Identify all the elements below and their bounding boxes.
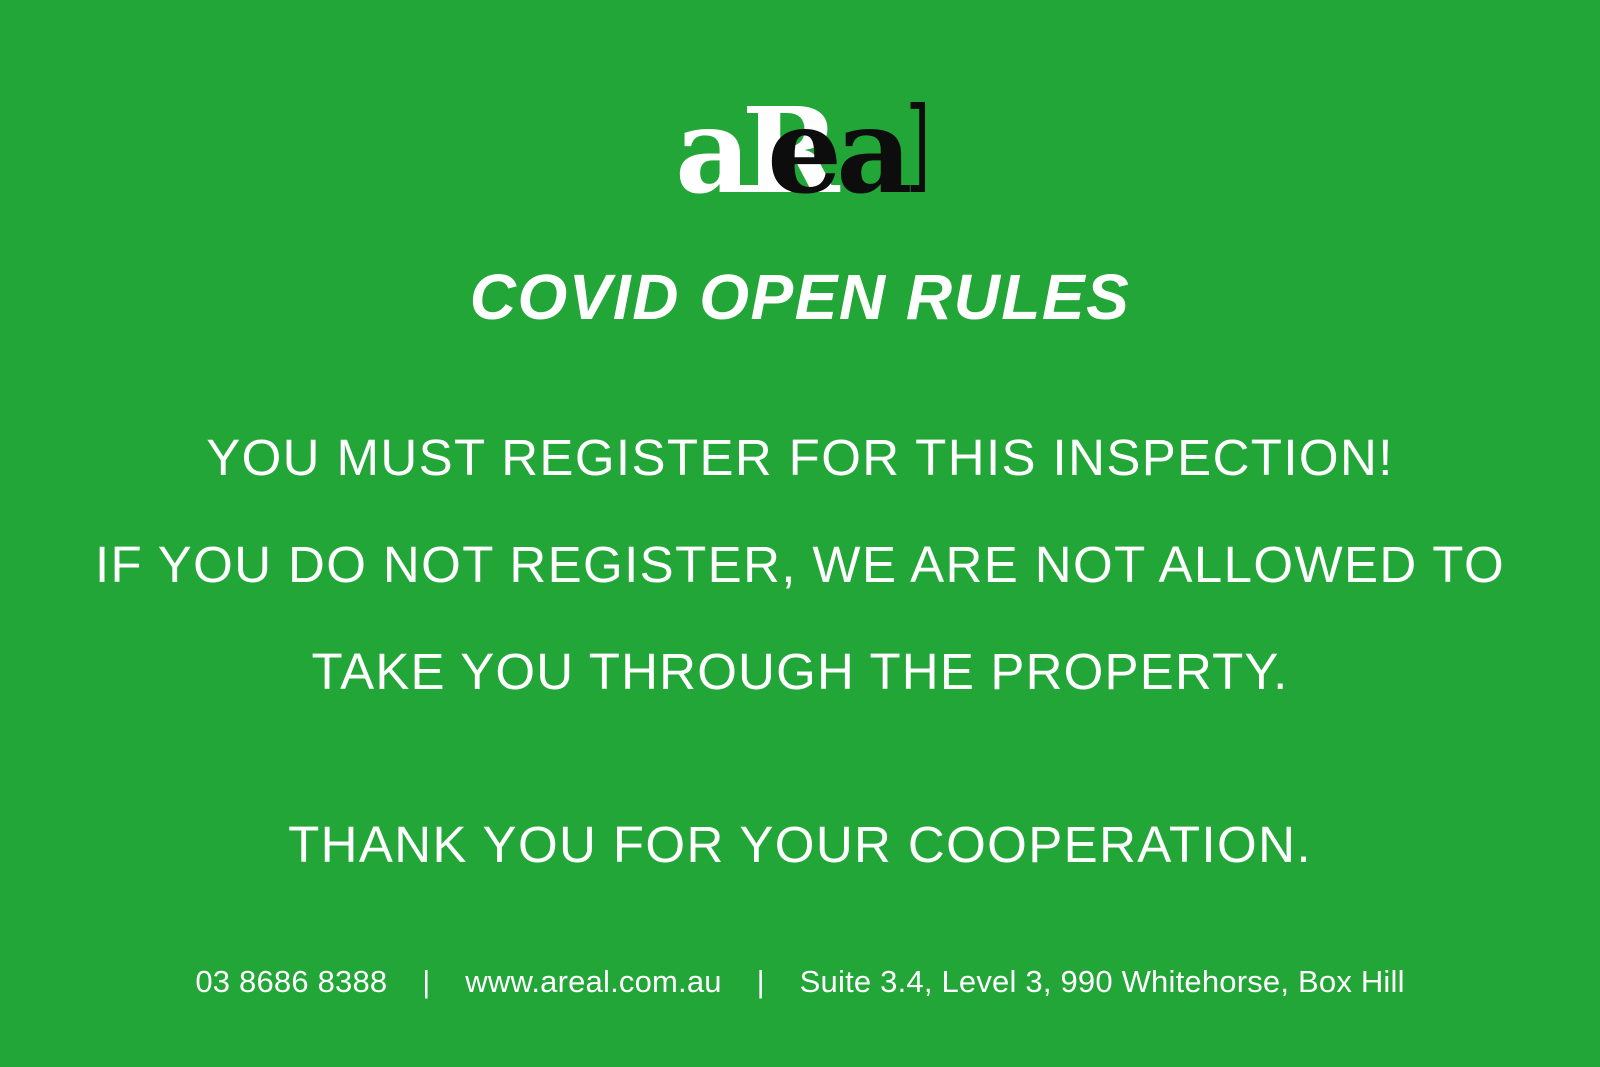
covid-open-rules-poster: aR eal COVID OPEN RULES YOU MUST REGISTE… (0, 0, 1600, 1067)
footer-phone[interactable]: 03 8686 8388 (195, 962, 387, 1002)
footer-address: Suite 3.4, Level 3, 990 Whitehorse, Box … (800, 962, 1405, 1002)
contact-footer: 03 8686 8388 | www.areal.com.au | Suite … (0, 962, 1600, 1002)
footer-separator-2: | (731, 962, 791, 1002)
footer-separator-1: | (396, 962, 456, 1002)
page-title: COVID OPEN RULES (0, 262, 1600, 332)
notice-closing-line: THANK YOU FOR YOUR COOPERATION. (0, 791, 1600, 898)
notice-body: YOU MUST REGISTER FOR THIS INSPECTION! I… (0, 404, 1600, 898)
paragraph-spacer (0, 725, 1600, 791)
brand-logo: aR eal (0, 62, 1600, 212)
footer-website[interactable]: www.areal.com.au (465, 962, 721, 1002)
notice-line-1: YOU MUST REGISTER FOR THIS INSPECTION! (0, 404, 1600, 511)
notice-line-3: TAKE YOU THROUGH THE PROPERTY. (0, 618, 1600, 725)
areal-logo-icon: aR eal (675, 62, 925, 212)
logo-dark-text: eal (767, 81, 925, 212)
notice-line-2: IF YOU DO NOT REGISTER, WE ARE NOT ALLOW… (0, 511, 1600, 618)
